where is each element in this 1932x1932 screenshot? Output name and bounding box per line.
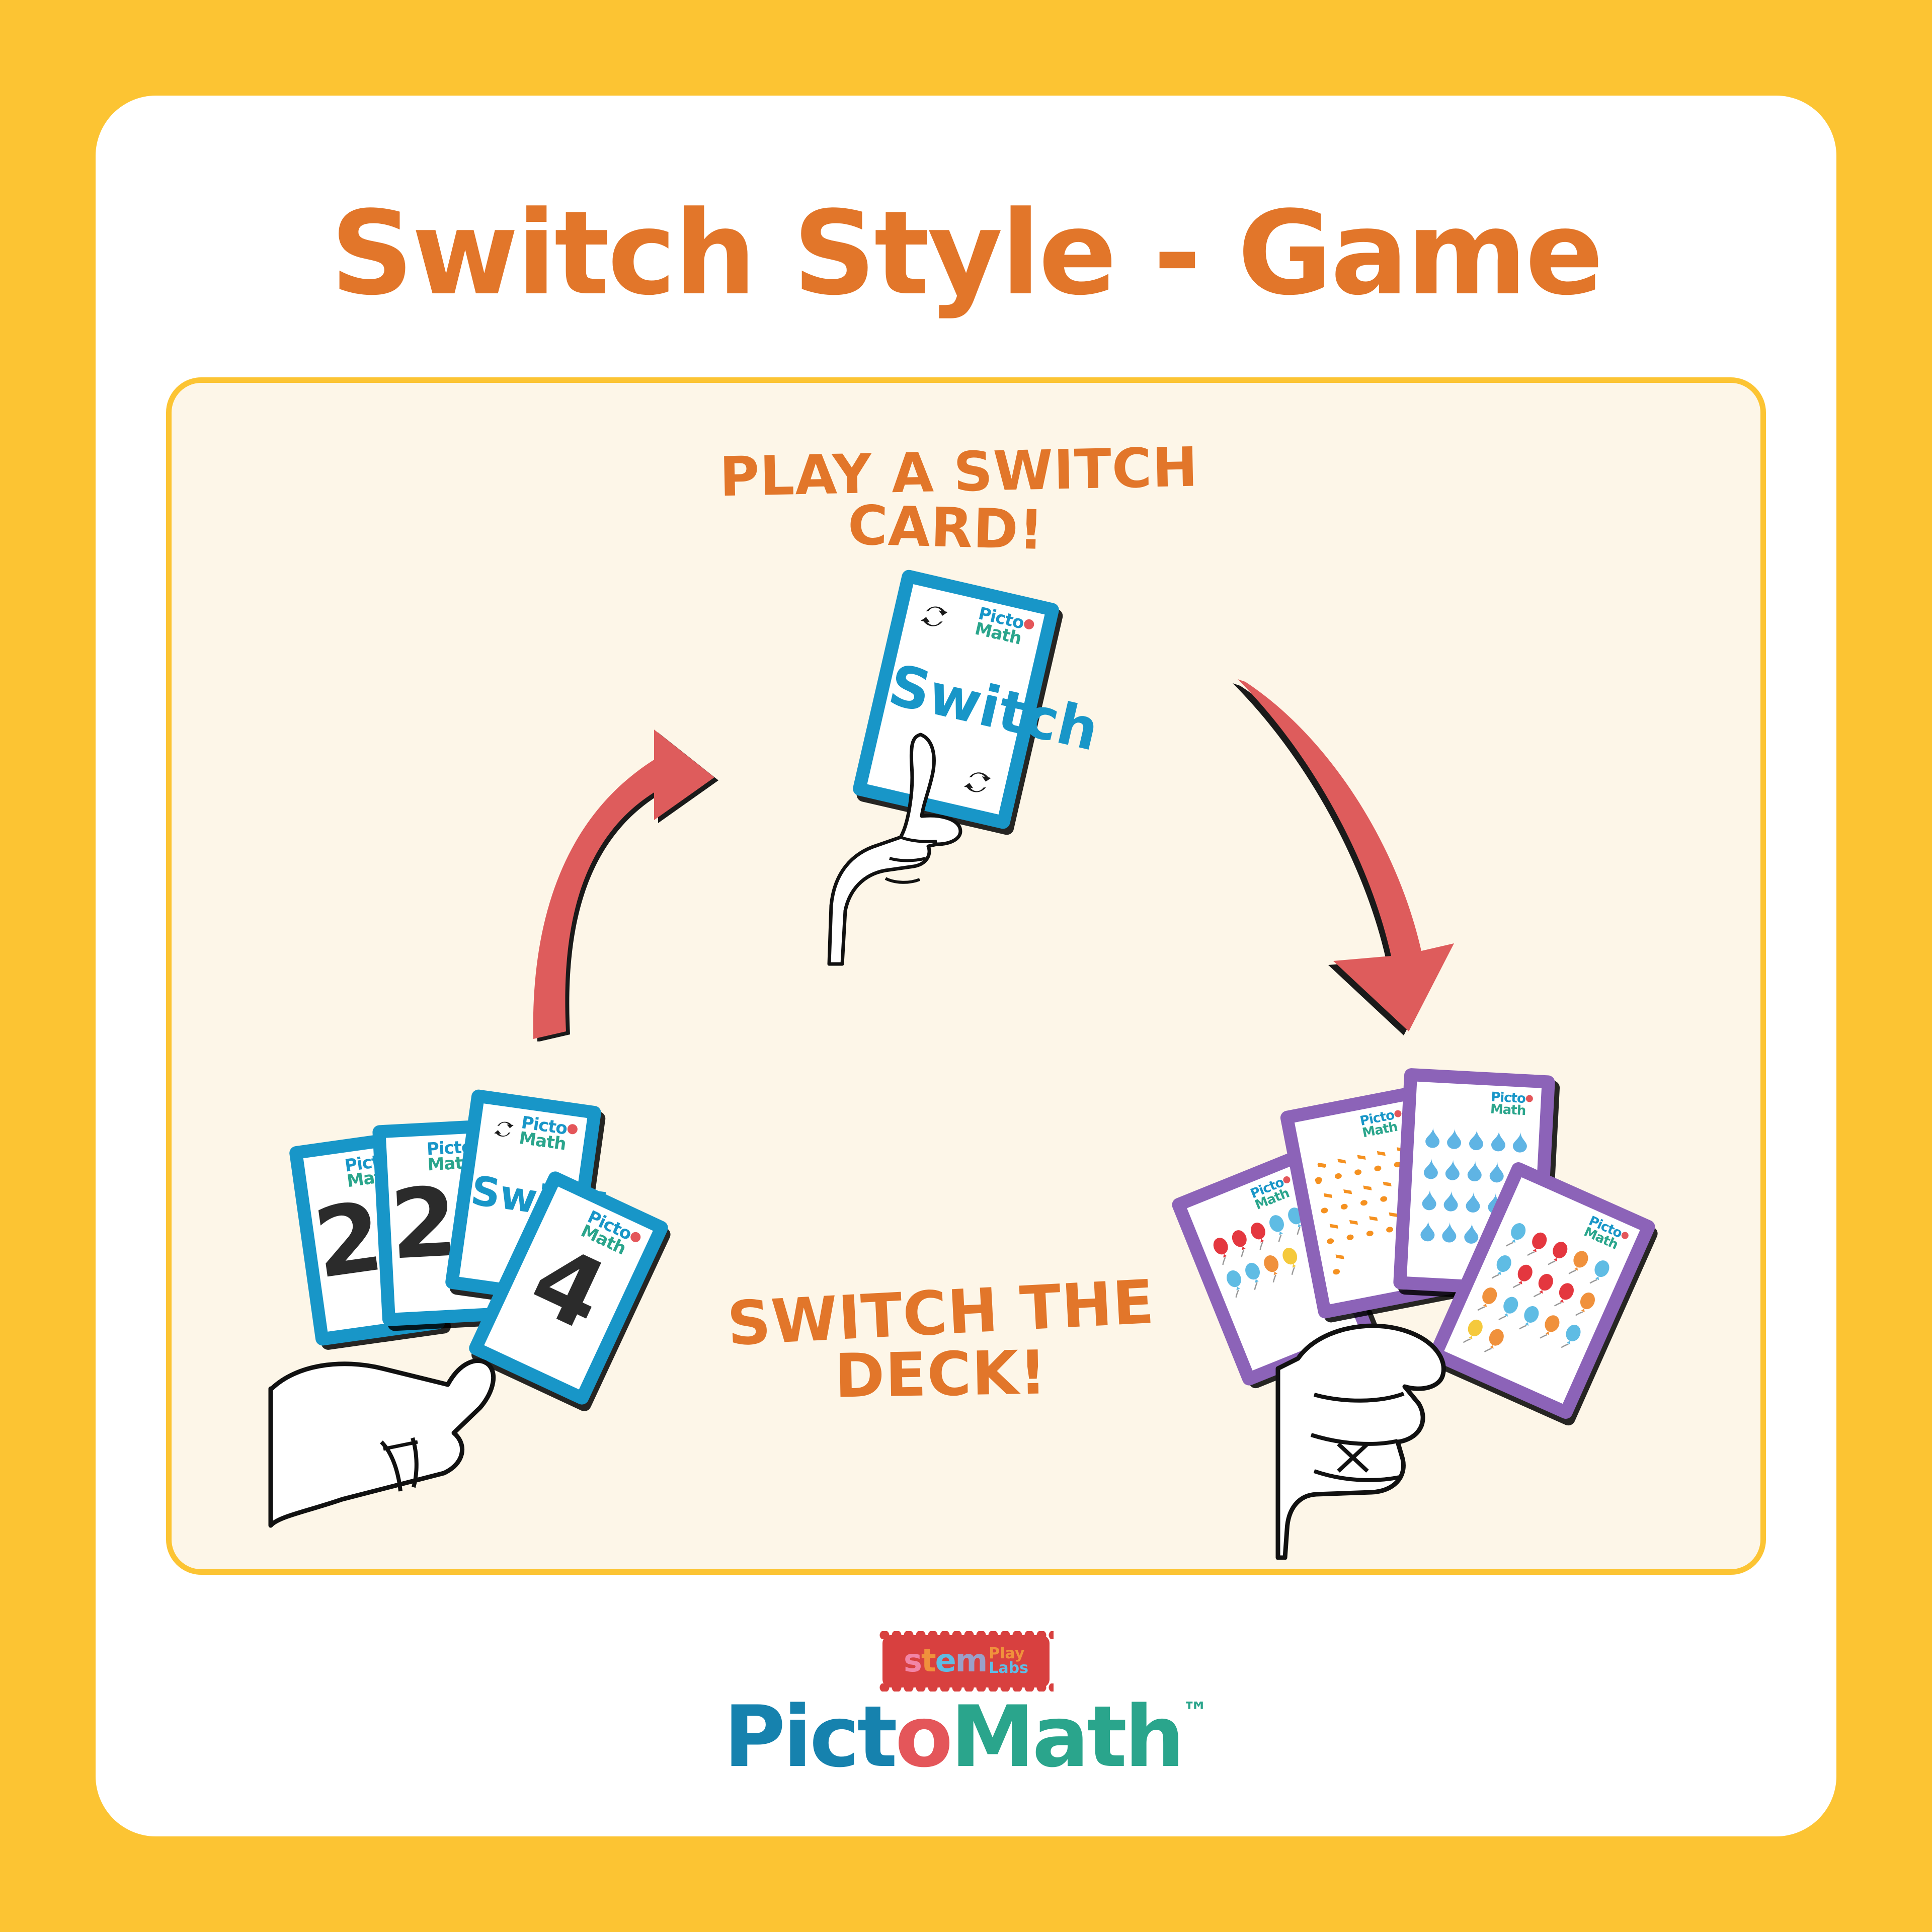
card-logo-dot [1023, 618, 1035, 630]
water-drop-icon [1420, 1187, 1439, 1212]
playlabs-wordmark: PlayLabs [989, 1646, 1028, 1676]
card-logo-dot [567, 1123, 579, 1135]
card-logo-math: Math [1490, 1103, 1533, 1117]
card-logo-dot [1526, 1095, 1534, 1102]
water-drop-icon [1441, 1188, 1461, 1213]
water-drop-icon [1421, 1156, 1440, 1180]
stem-letter-s: s [904, 1642, 921, 1679]
music-note-icon [1342, 1215, 1364, 1242]
water-drop-icon [1467, 1128, 1486, 1152]
card-logo-dot [1394, 1109, 1402, 1117]
water-drop-icon [1510, 1130, 1530, 1154]
water-drop-icon [1440, 1220, 1459, 1244]
card-brand-logo: Picto Math [1359, 1108, 1405, 1140]
music-note-icon [1311, 1158, 1332, 1185]
poster-root: Switch Style - Game PLAY A SWITCH CARD! … [0, 0, 1932, 1932]
page-title: Switch Style - Game [96, 196, 1836, 312]
caption-play-line2: CARD! [719, 495, 1173, 562]
hand-holding-switch-card-icon [825, 730, 1006, 966]
featured-switch-card-group: Picto Math Switch [835, 563, 1147, 966]
stem-letter-m: m [955, 1642, 987, 1679]
brand-math: Math [950, 1687, 1182, 1786]
playlabs-labs: Labs [989, 1661, 1028, 1675]
water-drop-icon [1489, 1129, 1508, 1153]
caption-play-line1: PLAY A SWITCH [719, 441, 1173, 506]
card-brand-logo: Picto Math [518, 1115, 579, 1154]
music-note-icon [1336, 1184, 1358, 1212]
water-drop-icon [1443, 1157, 1462, 1181]
music-note-icon [1350, 1150, 1372, 1177]
right-hand-card-fan-group: Picto Math Pict [1197, 1021, 1680, 1555]
card-logo-math: Math [518, 1131, 577, 1154]
music-note-icon [1330, 1154, 1352, 1181]
stemplaylabs-badge: stemPlayLabs [882, 1635, 1050, 1687]
card-brand-logo: Picto Math [1490, 1092, 1533, 1118]
right-hand-icon [1268, 1298, 1530, 1560]
water-drop-icon [1465, 1159, 1484, 1183]
brand-pic: Pic [723, 1687, 857, 1786]
water-drop-icon [1445, 1126, 1464, 1151]
playlabs-play: Play [989, 1646, 1028, 1661]
swap-arrows-icon [491, 1116, 517, 1142]
caption-deck-line2: DECK! [704, 1340, 1178, 1410]
caption-switch-the-deck: SWITCH THE DECK! [704, 1283, 1177, 1406]
swap-arrows-icon [916, 598, 953, 635]
stem-wordmark: stem [904, 1642, 987, 1679]
card-brand-logo: Picto Math [1582, 1215, 1630, 1254]
brand-o: o [895, 1687, 950, 1786]
music-note-icon [1328, 1249, 1350, 1276]
pictomath-wordmark: PictoMath™ [96, 1695, 1836, 1779]
left-hand-card-fan-group: Picto Math 25 Picto Math 20 [282, 1097, 735, 1530]
stem-letter-t: t [921, 1642, 935, 1679]
stem-letter-e: e [935, 1642, 955, 1679]
card-brand-logo: Picto Math [974, 606, 1036, 649]
music-note-icon [1356, 1180, 1378, 1207]
music-note-icon [1362, 1211, 1384, 1238]
music-note-icon [1370, 1146, 1392, 1173]
footer-branding: stemPlayLabs PictoMath™ [96, 1635, 1836, 1779]
card-logo-math: Math [974, 621, 1032, 650]
arrow-up-left-to-card-icon [503, 669, 735, 1041]
caption-play-a-switch-card: PLAY A SWITCH CARD! [719, 445, 1172, 556]
music-note-icon [1317, 1188, 1338, 1215]
music-note-icon [1322, 1219, 1344, 1246]
music-note-icon [1376, 1176, 1398, 1203]
brand-t: t [857, 1687, 895, 1786]
brand-trademark: ™ [1182, 1697, 1209, 1727]
water-drop-icon [1423, 1125, 1442, 1149]
left-hand-icon [267, 1298, 619, 1540]
arrow-down-right-to-deck-icon [1218, 669, 1499, 1041]
water-drop-icon [1418, 1219, 1437, 1243]
water-drop-icon [1487, 1160, 1506, 1184]
water-drop-icon [1464, 1190, 1483, 1214]
